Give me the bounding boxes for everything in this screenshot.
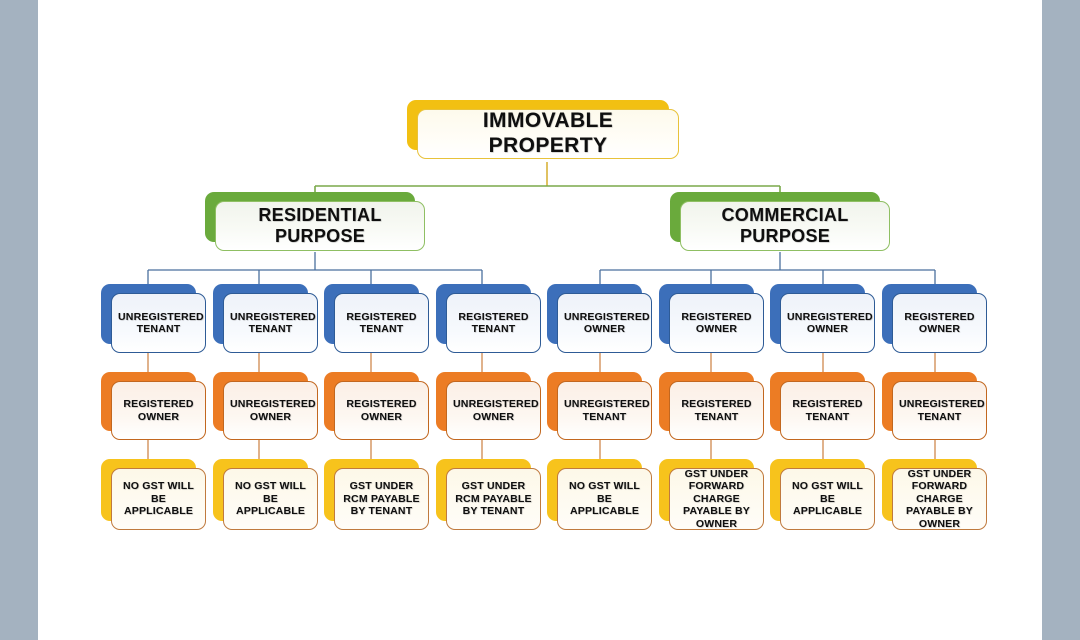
node-card: REGISTERED OWNER	[669, 293, 764, 353]
node-label: UNREGISTERED OWNER	[781, 311, 874, 336]
node-party-a-7[interactable]: UNREGISTERED OWNER	[770, 284, 865, 344]
node-outcome-6[interactable]: GST UNDER FORWARD CHARGE PAYABLE BY OWNE…	[659, 459, 754, 521]
node-card: RESIDENTIAL PURPOSE	[215, 201, 425, 251]
node-party-b-5[interactable]: UNREGISTERED TENANT	[547, 372, 642, 431]
node-label: REGISTERED TENANT	[335, 311, 428, 336]
node-outcome-2[interactable]: NO GST WILL BE APPLICABLE	[213, 459, 308, 521]
node-party-b-8[interactable]: UNREGISTERED TENANT	[882, 372, 977, 431]
node-card: NO GST WILL BE APPLICABLE	[780, 468, 875, 530]
node-label: UNREGISTERED OWNER	[447, 398, 540, 423]
node-label: REGISTERED OWNER	[893, 311, 986, 336]
node-card: GST UNDER FORWARD CHARGE PAYABLE BY OWNE…	[892, 468, 987, 530]
node-card: REGISTERED TENANT	[446, 293, 541, 353]
node-label: IMMOVABLE PROPERTY	[418, 109, 678, 159]
node-label-line1: RESIDENTIAL	[258, 205, 381, 225]
node-card: UNREGISTERED TENANT	[111, 293, 206, 353]
node-label: GST UNDER FORWARD CHARGE PAYABLE BY OWNE…	[670, 468, 763, 530]
node-card: REGISTERED TENANT	[334, 293, 429, 353]
node-commercial-purpose[interactable]: COMMERCIAL PURPOSE	[670, 192, 880, 242]
node-label: RESIDENTIAL PURPOSE	[216, 205, 424, 247]
node-label: GST UNDER FORWARD CHARGE PAYABLE BY OWNE…	[893, 468, 986, 530]
node-residential-purpose[interactable]: RESIDENTIAL PURPOSE	[205, 192, 415, 242]
node-outcome-4[interactable]: GST UNDER RCM PAYABLE BY TENANT	[436, 459, 531, 521]
node-party-a-1[interactable]: UNREGISTERED TENANT	[101, 284, 196, 344]
node-card: UNREGISTERED TENANT	[892, 381, 987, 440]
node-label-line2: PURPOSE	[740, 226, 830, 246]
node-label: UNREGISTERED TENANT	[112, 311, 205, 336]
node-label-line2: PURPOSE	[275, 226, 365, 246]
node-card: REGISTERED OWNER	[892, 293, 987, 353]
node-card: GST UNDER RCM PAYABLE BY TENANT	[446, 468, 541, 530]
node-root-immovable-property[interactable]: IMMOVABLE PROPERTY	[407, 100, 669, 150]
node-label: UNREGISTERED TENANT	[558, 398, 651, 423]
screenshot-page: IMMOVABLE PROPERTY RESIDENTIAL PURPOSE C	[0, 0, 1080, 640]
node-card: COMMERCIAL PURPOSE	[680, 201, 890, 251]
node-card: UNREGISTERED OWNER	[780, 293, 875, 353]
node-party-a-6[interactable]: REGISTERED OWNER	[659, 284, 754, 344]
node-label: GST UNDER RCM PAYABLE BY TENANT	[447, 480, 540, 517]
node-party-a-3[interactable]: REGISTERED TENANT	[324, 284, 419, 344]
node-outcome-5[interactable]: NO GST WILL BE APPLICABLE	[547, 459, 642, 521]
node-party-a-5[interactable]: UNREGISTERED OWNER	[547, 284, 642, 344]
node-label: UNREGISTERED TENANT	[893, 398, 986, 423]
connector-commercial-to-parties	[600, 252, 935, 284]
node-card: NO GST WILL BE APPLICABLE	[223, 468, 318, 530]
node-party-b-1[interactable]: REGISTERED OWNER	[101, 372, 196, 431]
node-label: REGISTERED OWNER	[112, 398, 205, 423]
node-label: REGISTERED TENANT	[781, 398, 874, 423]
node-party-a-4[interactable]: REGISTERED TENANT	[436, 284, 531, 344]
node-card: UNREGISTERED OWNER	[446, 381, 541, 440]
node-card: GST UNDER FORWARD CHARGE PAYABLE BY OWNE…	[669, 468, 764, 530]
node-card: UNREGISTERED OWNER	[223, 381, 318, 440]
node-card: IMMOVABLE PROPERTY	[417, 109, 679, 159]
node-label: NO GST WILL BE APPLICABLE	[781, 480, 874, 517]
node-party-a-8[interactable]: REGISTERED OWNER	[882, 284, 977, 344]
node-card: REGISTERED TENANT	[669, 381, 764, 440]
node-card: REGISTERED OWNER	[111, 381, 206, 440]
node-label: REGISTERED TENANT	[447, 311, 540, 336]
node-card: UNREGISTERED OWNER	[557, 293, 652, 353]
connector-residential-to-parties	[148, 252, 482, 284]
node-label: COMMERCIAL PURPOSE	[681, 205, 889, 247]
node-label: UNREGISTERED OWNER	[558, 311, 651, 336]
immovable-property-flowchart: IMMOVABLE PROPERTY RESIDENTIAL PURPOSE C	[38, 0, 1042, 640]
node-card: UNREGISTERED TENANT	[223, 293, 318, 353]
node-label: NO GST WILL BE APPLICABLE	[224, 480, 317, 517]
node-label: REGISTERED OWNER	[335, 398, 428, 423]
node-outcome-8[interactable]: GST UNDER FORWARD CHARGE PAYABLE BY OWNE…	[882, 459, 977, 521]
node-label: UNREGISTERED TENANT	[224, 311, 317, 336]
node-party-b-6[interactable]: REGISTERED TENANT	[659, 372, 754, 431]
node-party-b-2[interactable]: UNREGISTERED OWNER	[213, 372, 308, 431]
node-card: NO GST WILL BE APPLICABLE	[557, 468, 652, 530]
node-label: REGISTERED OWNER	[670, 311, 763, 336]
node-card: REGISTERED TENANT	[780, 381, 875, 440]
node-label: NO GST WILL BE APPLICABLE	[558, 480, 651, 517]
node-card: REGISTERED OWNER	[334, 381, 429, 440]
node-label-line1: COMMERCIAL	[722, 205, 849, 225]
node-party-b-3[interactable]: REGISTERED OWNER	[324, 372, 419, 431]
node-label: NO GST WILL BE APPLICABLE	[112, 480, 205, 517]
node-card: GST UNDER RCM PAYABLE BY TENANT	[334, 468, 429, 530]
node-party-b-4[interactable]: UNREGISTERED OWNER	[436, 372, 531, 431]
node-card: UNREGISTERED TENANT	[557, 381, 652, 440]
node-outcome-3[interactable]: GST UNDER RCM PAYABLE BY TENANT	[324, 459, 419, 521]
node-label: UNREGISTERED OWNER	[224, 398, 317, 423]
node-party-a-2[interactable]: UNREGISTERED TENANT	[213, 284, 308, 344]
node-label: GST UNDER RCM PAYABLE BY TENANT	[335, 480, 428, 517]
node-outcome-1[interactable]: NO GST WILL BE APPLICABLE	[101, 459, 196, 521]
node-label: REGISTERED TENANT	[670, 398, 763, 423]
node-party-b-7[interactable]: REGISTERED TENANT	[770, 372, 865, 431]
node-outcome-7[interactable]: NO GST WILL BE APPLICABLE	[770, 459, 865, 521]
white-canvas: IMMOVABLE PROPERTY RESIDENTIAL PURPOSE C	[38, 0, 1042, 640]
node-card: NO GST WILL BE APPLICABLE	[111, 468, 206, 530]
